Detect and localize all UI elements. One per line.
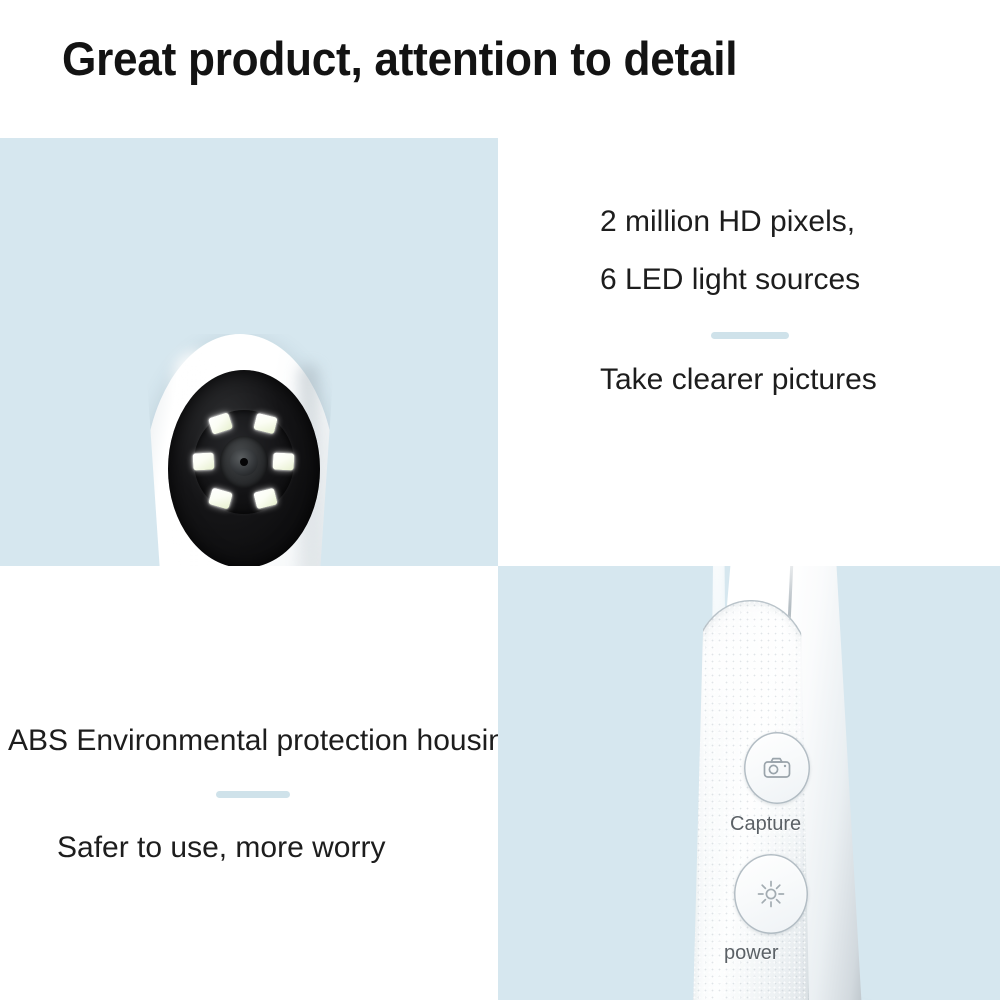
led-light-icon [273, 452, 295, 470]
feature-line-3: Take clearer pictures [600, 363, 877, 397]
led-light-icon [208, 412, 233, 435]
panel-camera-probe-photo [0, 138, 498, 566]
feature-divider-rule [711, 332, 789, 339]
product-infographic: Great product, attention to detail [0, 0, 1000, 1000]
housing-line-2: Safer to use, more worry [57, 831, 385, 865]
led-light-icon [208, 487, 233, 509]
panel-handle-photo: Capture [498, 566, 1000, 1000]
feature-line-1: 2 million HD pixels, [600, 205, 855, 239]
panel-feature-text [498, 138, 1000, 566]
led-light-icon [253, 413, 277, 435]
camera-lens-aperture [240, 458, 248, 466]
camera-lens [220, 436, 268, 488]
led-light-icon [253, 488, 277, 510]
power-button-label: power [724, 942, 778, 965]
lens-bezel [168, 370, 320, 566]
feature-line-2: 6 LED light sources [600, 263, 860, 297]
panel-housing-text [0, 566, 498, 1000]
capture-button-label: Capture [730, 813, 801, 836]
camera-icon [744, 732, 810, 804]
camera-probe-device [134, 334, 354, 566]
housing-divider-rule [216, 791, 290, 798]
camera-handle-device: Capture [608, 566, 908, 1000]
led-light-icon [193, 452, 215, 470]
page-title: Great product, attention to detail [62, 33, 737, 86]
housing-line-1: ABS Environmental protection housing [8, 724, 522, 758]
brightness-sun-icon [734, 854, 808, 934]
led-ring-board [194, 410, 294, 514]
capture-button[interactable] [744, 732, 810, 804]
camera-lens-inner [230, 448, 258, 476]
power-button[interactable] [734, 854, 808, 934]
